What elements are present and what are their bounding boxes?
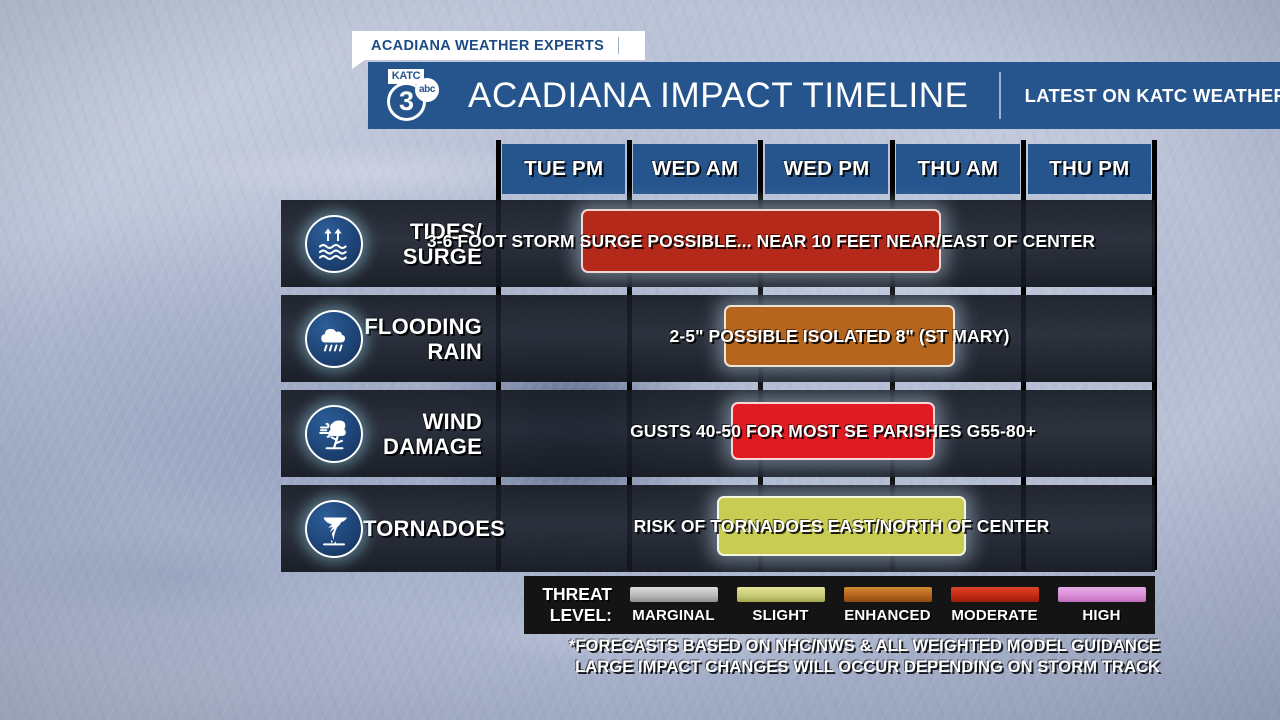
column-header-wed-am: WED AM [633, 144, 756, 194]
eyebrow-banner: ACADIANA WEATHER EXPERTS [352, 31, 645, 60]
legend-swatch-moderate [951, 587, 1039, 602]
legend-item-high: HIGH [1048, 576, 1155, 634]
legend-title: THREAT LEVEL: [524, 584, 620, 626]
legend-item-slight: SLIGHT [727, 576, 834, 634]
row-label-text: TORNADOES [363, 516, 521, 541]
column-header-thu-am: THU AM [896, 144, 1019, 194]
timeline-row-tornadoes: TORNADOES RISK OF TORNADOES EAST/NORTH O… [281, 485, 1155, 572]
katc-logo: KATC 3 abc [386, 68, 448, 124]
column-header-wed-pm: WED PM [765, 144, 888, 194]
impact-badge-wind-damage: GUSTS 40-50 FOR MOST SE PARISHES G55-80+ [731, 402, 935, 460]
impact-badge-flooding-rain: 2-5" POSSIBLE ISOLATED 8" (ST MARY) [724, 305, 955, 367]
flooding-rain-icon [305, 310, 363, 368]
wind-damage-icon [305, 405, 363, 463]
column-header-thu-pm: THU PM [1028, 144, 1151, 194]
impact-timeline-grid: TUE PM WED AM WED PM THU AM THU PM [281, 140, 1155, 570]
row-label-wind-damage: WIND DAMAGE [281, 390, 498, 477]
impact-badge-tornadoes: RISK OF TORNADOES EAST/NORTH OF CENTER [717, 496, 966, 556]
eyebrow-label: ACADIANA WEATHER EXPERTS [371, 38, 604, 54]
row-label-text: FLOODING RAIN [363, 314, 498, 364]
eyebrow-notch [352, 60, 365, 69]
legend-item-moderate: MODERATE [941, 576, 1048, 634]
timeline-row-flooding-rain: FLOODING RAIN 2-5" POSSIBLE ISOLATED 8" … [281, 295, 1155, 382]
tides-surge-icon [305, 215, 363, 273]
column-header-tue-pm: TUE PM [502, 144, 625, 194]
row-label-flooding-rain: FLOODING RAIN [281, 295, 498, 382]
threat-level-legend: THREAT LEVEL: MARGINAL SLIGHT ENHANCED M… [524, 576, 1155, 634]
legend-label-moderate: MODERATE [951, 607, 1037, 624]
app-promo-text: LATEST ON KATC WEATHER APP [1025, 85, 1280, 107]
tornadoes-icon [305, 500, 363, 558]
legend-swatch-slight [737, 587, 825, 602]
legend-item-marginal: MARGINAL [620, 576, 727, 634]
legend-label-high: HIGH [1082, 607, 1120, 624]
timeline-column-headers: TUE PM WED AM WED PM THU AM THU PM [498, 140, 1155, 197]
abc-affiliate-mark: abc [415, 78, 439, 102]
weather-graphic-stage: ACADIANA WEATHER EXPERTS KATC 3 abc ACAD… [0, 0, 1280, 720]
legend-swatch-high [1058, 587, 1146, 602]
legend-label-marginal: MARGINAL [632, 607, 714, 624]
row-label-tornadoes: TORNADOES [281, 485, 498, 572]
page-title: ACADIANA IMPACT TIMELINE [468, 76, 969, 116]
eyebrow-divider [618, 37, 619, 54]
forecast-disclaimer: *FORECASTS BASED ON NHC/NWS & ALL WEIGHT… [560, 636, 1160, 678]
legend-swatch-marginal [630, 587, 718, 602]
row-label-text: WIND DAMAGE [363, 409, 498, 459]
timeline-row-tides-surge: TIDES/ SURGE 3-6 FOOT STORM SURGE POSSIB… [281, 200, 1155, 287]
title-divider [999, 72, 1001, 119]
timeline-row-wind-damage: WIND DAMAGE GUSTS 40-50 FOR MOST SE PARI… [281, 390, 1155, 477]
legend-item-enhanced: ENHANCED [834, 576, 941, 634]
legend-item-list: MARGINAL SLIGHT ENHANCED MODERATE HIGH [620, 576, 1155, 634]
impact-badge-tides-surge: 3-6 FOOT STORM SURGE POSSIBLE... NEAR 10… [581, 209, 941, 273]
title-bar: KATC 3 abc ACADIANA IMPACT TIMELINE LATE… [368, 62, 1280, 129]
legend-label-slight: SLIGHT [752, 607, 808, 624]
legend-swatch-enhanced [844, 587, 932, 602]
legend-label-enhanced: ENHANCED [844, 607, 931, 624]
